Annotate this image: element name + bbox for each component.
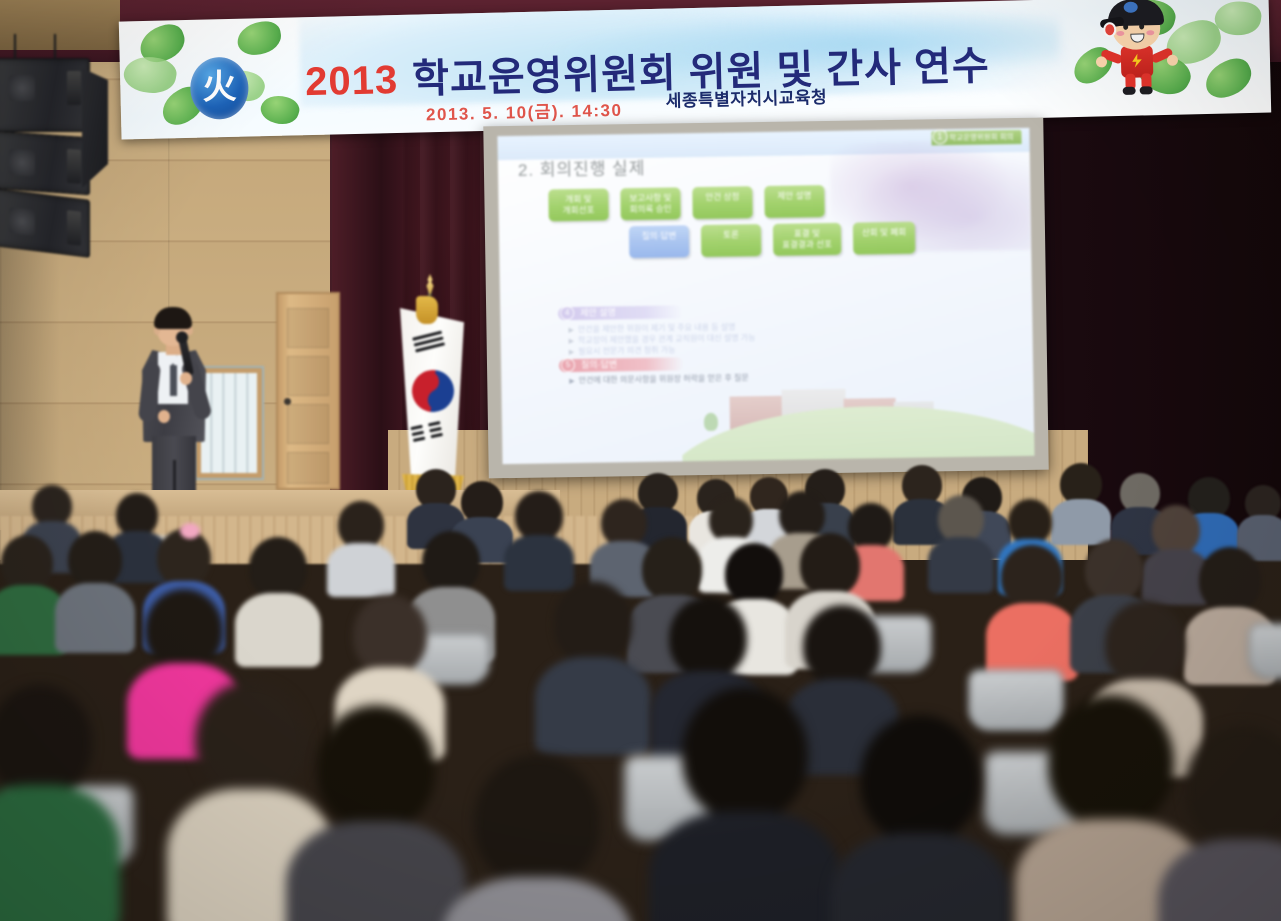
audience-member bbox=[1168, 725, 1281, 921]
slide-section-heading-5: 5 질의·답변 bbox=[559, 357, 684, 372]
audience-head bbox=[1, 535, 53, 591]
leaf-decoration bbox=[121, 52, 179, 97]
audience-head bbox=[249, 537, 307, 599]
slide-bullet: ▶안건에 대한 의문사항을 위원장 허락을 얻은 후 질문 bbox=[569, 373, 749, 386]
audience-head bbox=[353, 595, 427, 675]
speaker-horn bbox=[67, 71, 81, 105]
audience-torso bbox=[928, 537, 994, 593]
speaker-horn bbox=[67, 149, 81, 184]
audience-member bbox=[330, 501, 392, 587]
bullet-triangle-icon: ▶ bbox=[569, 338, 574, 345]
audience-torso bbox=[327, 543, 395, 597]
flow-box: 토론 bbox=[701, 224, 761, 257]
audience-torso bbox=[286, 821, 466, 921]
speaker-driver bbox=[9, 149, 35, 177]
auditorium-photo-scene: 火 2013학교운영위원회 위원 및 간사 연수 2013. 5. 10(금).… bbox=[0, 0, 1281, 921]
audience-member bbox=[930, 495, 992, 583]
audience-head bbox=[338, 501, 384, 549]
section-label: 제안 설명 bbox=[580, 306, 616, 320]
flow-box: 제안 설명 bbox=[764, 185, 824, 218]
audience-member bbox=[660, 687, 830, 921]
door-knob bbox=[284, 398, 291, 405]
speaker-cabinet bbox=[0, 131, 90, 196]
audience-torso bbox=[442, 877, 632, 921]
door-panel bbox=[287, 308, 329, 348]
mascot-shoe bbox=[1123, 87, 1136, 95]
chair bbox=[1248, 623, 1281, 679]
education-office-logo: 火 bbox=[190, 57, 249, 120]
audience-head bbox=[803, 605, 881, 687]
audience-head bbox=[515, 491, 563, 541]
slide-section-tab: 1 학교운영위원회 회의 bbox=[931, 130, 1021, 145]
audience-head bbox=[145, 589, 223, 671]
audience-member bbox=[540, 581, 646, 745]
bullet-triangle-icon: ▶ bbox=[569, 349, 574, 356]
audience-head bbox=[682, 687, 808, 821]
audience-member bbox=[180, 523, 200, 543]
presenter-hand bbox=[158, 410, 170, 423]
slide-bullet: ▶학교장이 제안했을 경우 관계 교직원이 대신 설명 가능 bbox=[569, 333, 756, 346]
audience-head bbox=[554, 581, 632, 665]
audience-member bbox=[1052, 463, 1110, 537]
banner-date: 2013. 5. 10(금). 14:30 bbox=[426, 96, 623, 126]
logo-glyph: 火 bbox=[190, 57, 249, 120]
ceiling-hung-line-array-speakers bbox=[0, 58, 102, 268]
bullet-text: 안건을 제안한 위원이 제기 및 주요 내용 등 설명 bbox=[578, 322, 736, 333]
slide-tab-label: 학교운영위원회 회의 bbox=[949, 132, 1013, 142]
bullet-triangle-icon: ▶ bbox=[568, 327, 573, 334]
audience-torso bbox=[1158, 839, 1281, 921]
audience-head bbox=[1085, 539, 1143, 601]
bullet-text: 안건에 대한 의문사항을 위원장 허락을 얻은 후 질문 bbox=[579, 373, 749, 385]
flow-box: 산회 및 폐회 bbox=[853, 222, 916, 255]
audience-torso bbox=[830, 833, 1010, 921]
flow-box: 표결 및 표결결과 선포 bbox=[773, 223, 841, 256]
presenter-hair bbox=[154, 307, 192, 329]
audience-head bbox=[669, 597, 747, 679]
audience-head bbox=[0, 685, 92, 797]
speaker-rigging-wire bbox=[54, 34, 56, 60]
presentation-slide: 1 학교운영위원회 회의 2. 회의진행 실제 개회 및 개회선포 보고사항 및… bbox=[497, 128, 1034, 464]
audience-member bbox=[840, 715, 1000, 921]
audience-member bbox=[58, 531, 132, 643]
section-bar bbox=[559, 357, 684, 372]
speaker-cabinet bbox=[0, 58, 90, 132]
audience-head bbox=[1001, 545, 1063, 609]
door-panel bbox=[287, 404, 329, 444]
ceiling-wood-trim bbox=[0, 0, 120, 50]
audience-head bbox=[474, 755, 600, 887]
leaf-decoration bbox=[1213, 0, 1263, 38]
speaker-rigging-wire bbox=[14, 34, 16, 60]
audience-seating-area bbox=[0, 455, 1281, 921]
speaker-cabinet bbox=[0, 188, 90, 258]
speaker-horn bbox=[67, 210, 81, 246]
audience-head bbox=[317, 705, 435, 831]
audience-torso bbox=[235, 593, 321, 667]
banner-year: 2013 bbox=[305, 58, 399, 104]
audience-torso bbox=[0, 785, 120, 921]
flow-box: 안건 상정 bbox=[692, 186, 752, 219]
audience-head bbox=[800, 533, 860, 597]
audience-member bbox=[1238, 485, 1281, 555]
flow-box: 개회 및 개회선포 bbox=[548, 188, 608, 221]
leaf-decoration bbox=[1200, 53, 1258, 103]
section-label: 질의·답변 bbox=[581, 358, 617, 372]
audience-head bbox=[725, 543, 783, 605]
speaker-driver bbox=[9, 207, 35, 236]
sejong-mascot-character bbox=[1093, 0, 1181, 95]
flow-box: 보고사항 및 회의록 승인 bbox=[620, 187, 680, 220]
audience-head bbox=[68, 531, 122, 589]
banner-organization: 세종특별자치시교육청 bbox=[665, 83, 827, 112]
slide-title: 2. 회의진행 실제 bbox=[518, 154, 646, 181]
audience-head bbox=[642, 537, 702, 601]
mascot-shoe bbox=[1140, 86, 1153, 94]
audience-member bbox=[506, 491, 572, 579]
flag-gold-ribbon bbox=[416, 296, 438, 324]
bullet-triangle-icon: ▶ bbox=[569, 378, 574, 385]
slide-tab-number: 1 bbox=[932, 129, 947, 144]
flag-finial-ornament bbox=[422, 274, 438, 296]
audience-member bbox=[296, 705, 456, 921]
audience-head bbox=[422, 531, 480, 593]
audience-head bbox=[779, 491, 825, 539]
audience-member bbox=[990, 545, 1074, 669]
speaker-driver bbox=[9, 75, 35, 101]
mascot-hand bbox=[1167, 55, 1178, 66]
leaf-decoration bbox=[258, 91, 302, 129]
flow-diagram-row-2: 질의·답변 토론 표결 및 표결결과 선포 산회 및 폐회 bbox=[629, 222, 916, 258]
slide-bullet: ▶필요시 전문가 의견 청취 가능 bbox=[569, 345, 676, 357]
audience-member bbox=[0, 685, 110, 921]
slide-school-illustration bbox=[681, 386, 1034, 462]
mascot-hand bbox=[1096, 56, 1107, 67]
audience-head bbox=[1105, 601, 1185, 687]
audience-member bbox=[452, 755, 622, 921]
flow-box-highlighted: 질의·답변 bbox=[629, 225, 689, 258]
hair-accessory bbox=[180, 523, 200, 539]
section-bar bbox=[558, 305, 683, 320]
audience-torso bbox=[535, 657, 651, 755]
audience-member bbox=[238, 537, 318, 655]
audience-head bbox=[860, 715, 980, 843]
projection-screen: 1 학교운영위원회 회의 2. 회의진행 실제 개회 및 개회선포 보고사항 및… bbox=[483, 118, 1048, 479]
audience-torso bbox=[55, 583, 135, 653]
audience-head bbox=[1199, 547, 1261, 613]
bullet-text: 필요시 전문가 의견 청취 가능 bbox=[578, 345, 675, 356]
tree-shape bbox=[704, 413, 718, 431]
audience-head bbox=[1185, 725, 1281, 849]
leaf-decoration bbox=[235, 19, 284, 58]
bullet-text: 학교장이 제안했을 경우 관계 교직원이 대신 설명 가능 bbox=[578, 333, 756, 345]
audience-torso bbox=[649, 811, 841, 921]
slide-section-heading-4: 4 제안 설명 bbox=[558, 305, 683, 320]
presenter-hand bbox=[180, 372, 192, 385]
door-panel bbox=[287, 356, 329, 396]
audience-head bbox=[195, 681, 307, 799]
audience-head bbox=[938, 495, 984, 543]
flow-diagram-row-1: 개회 및 개회선포 보고사항 및 회의록 승인 안건 상정 제안 설명 bbox=[548, 185, 824, 221]
audience-head bbox=[1048, 695, 1174, 829]
